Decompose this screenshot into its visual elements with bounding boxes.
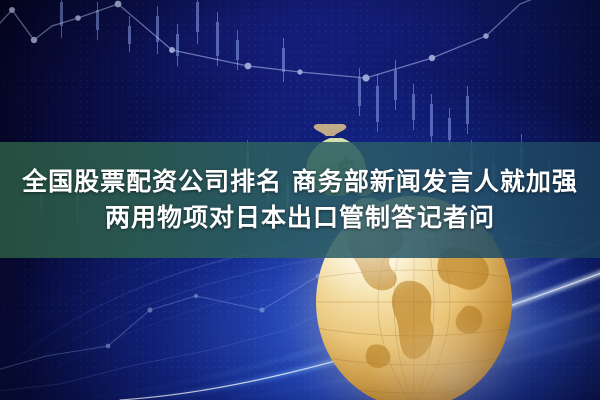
headline-band: 全国股票配资公司排名 商务部新闻发言人就加强 两用物项对日本出口管制答记者问 [0, 142, 600, 258]
candlestick-chart-upper [60, 0, 469, 148]
network-polyline-top [0, 0, 560, 82]
headline-line-1: 全国股票配资公司排名 商务部新闻发言人就加强 [22, 165, 578, 200]
banner-image: $ $ [0, 0, 600, 400]
headline-line-2: 两用物项对日本出口管制答记者问 [105, 201, 495, 236]
